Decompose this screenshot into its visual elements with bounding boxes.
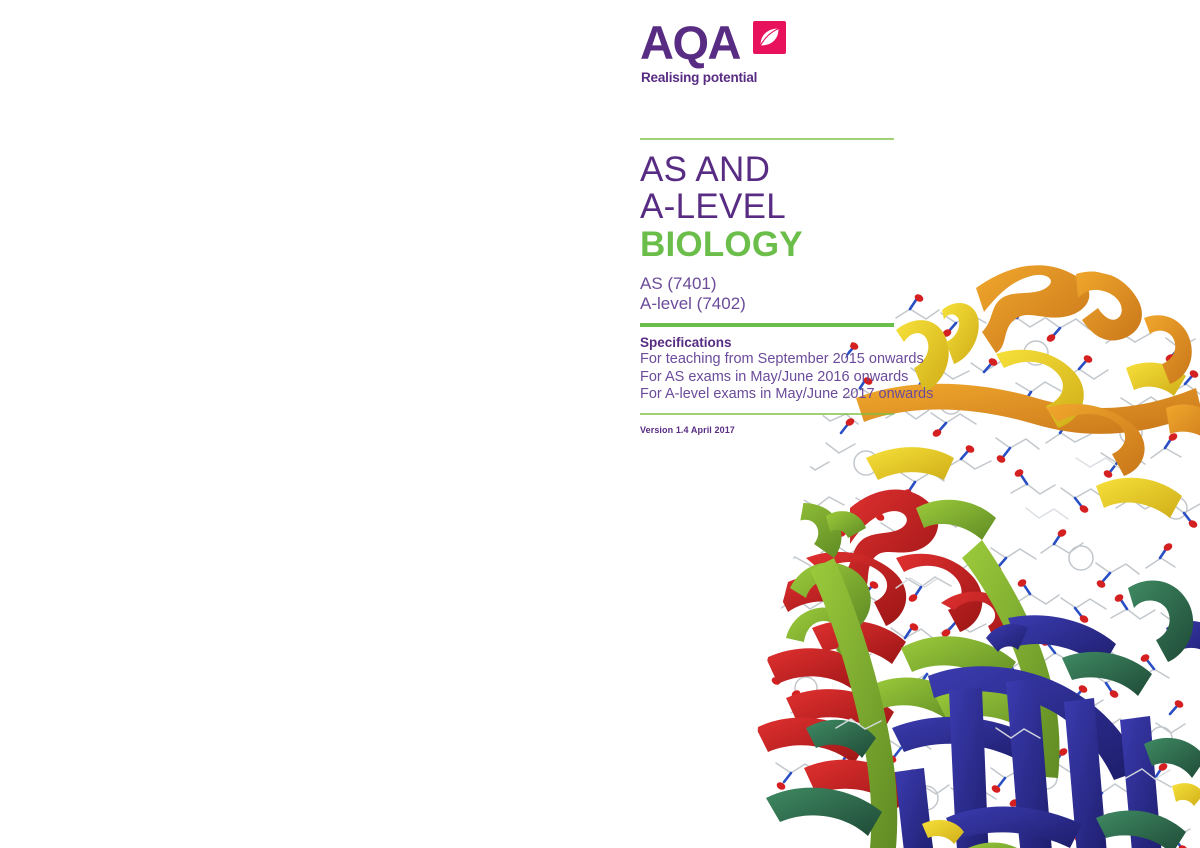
rule-above-title — [640, 138, 894, 140]
aqa-logo: AQA Realising potential — [640, 18, 900, 100]
specs-line-as-exams: For AS exams in May/June 2016 onwards — [640, 369, 894, 387]
title-line-2: A-LEVEL — [640, 188, 894, 225]
specification-cover-page: AQA Realising potential AS AND A-LEVEL B… — [0, 0, 1200, 848]
specifications-heading: Specifications — [640, 334, 894, 351]
version-group: Version 1.4 April 2017 — [640, 415, 894, 436]
aqa-leaf-icon — [753, 21, 786, 54]
cover-text-block: AS AND A-LEVEL BIOLOGY AS (7401) A-level… — [640, 138, 894, 436]
rule-above-version — [640, 413, 894, 415]
specs-line-a-level-exams: For A-level exams in May/June 2017 onwar… — [640, 386, 894, 404]
subject-title: BIOLOGY — [640, 225, 894, 265]
version-text: Version 1.4 April 2017 — [640, 424, 894, 436]
code-as: AS (7401) — [640, 274, 894, 294]
specs-line-teaching: For teaching from September 2015 onwards — [640, 351, 894, 369]
aqa-wordmark: AQA — [640, 18, 740, 68]
code-a-level: A-level (7402) — [640, 294, 894, 314]
specifications-group: Specifications For teaching from Septemb… — [640, 327, 894, 413]
title-group: AS AND A-LEVEL BIOLOGY — [640, 140, 894, 271]
title-line-1: AS AND — [640, 151, 894, 188]
aqa-tagline: Realising potential — [641, 70, 757, 85]
qualification-codes: AS (7401) A-level (7402) — [640, 271, 894, 323]
